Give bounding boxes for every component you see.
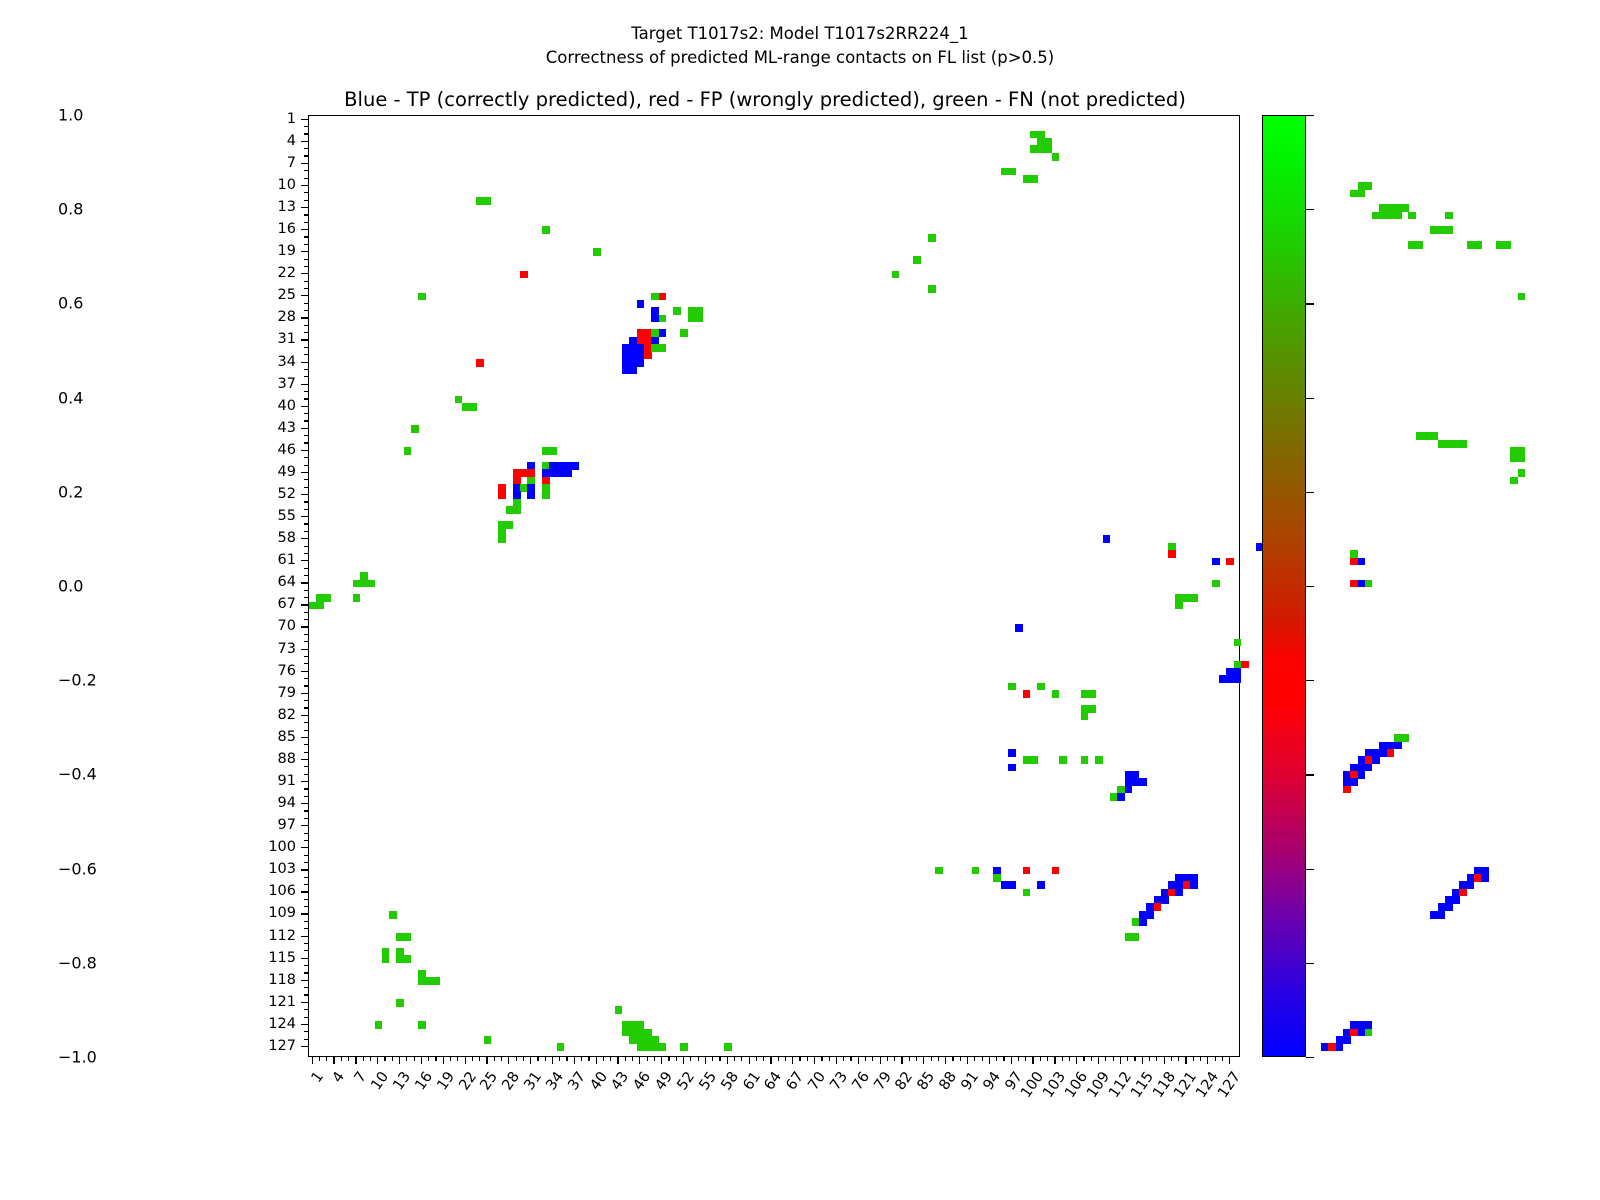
y-tick-label: 34: [246, 354, 296, 370]
x-tick: [450, 1057, 451, 1061]
y-tick: [301, 273, 308, 274]
heatmap-cell: [542, 491, 550, 499]
x-tick: [1040, 1057, 1041, 1061]
y-tick-label: 43: [246, 420, 296, 436]
y-tick-label: 85: [246, 729, 296, 745]
y-tick: [301, 1002, 308, 1003]
y-tick-label: 118: [246, 972, 296, 988]
y-tick: [301, 538, 308, 539]
heatmap-cell: [1059, 756, 1067, 764]
heatmap-cell: [659, 329, 667, 337]
heatmap-cell: [506, 521, 514, 529]
y-tick: [301, 958, 308, 959]
x-tick: [355, 1057, 356, 1064]
x-tick: [312, 1057, 313, 1064]
heatmap-cell: [659, 293, 667, 301]
heatmap-cell: [1474, 241, 1482, 249]
heatmap-cell: [1416, 241, 1424, 249]
colorbar-tick: [1306, 774, 1314, 775]
x-tick: [909, 1057, 910, 1061]
heatmap-cell: [972, 867, 980, 875]
y-tick: [304, 722, 308, 723]
x-tick: [1113, 1057, 1114, 1061]
x-tick: [370, 1057, 371, 1061]
heatmap-cell: [935, 867, 943, 875]
y-tick: [304, 281, 308, 282]
y-tick-label: 115: [246, 950, 296, 966]
y-tick: [304, 391, 308, 392]
y-tick: [304, 663, 308, 664]
y-tick-label: 109: [246, 905, 296, 921]
heatmap-cell: [571, 462, 579, 470]
heatmap-cell: [724, 1043, 732, 1051]
colorbar[interactable]: [1262, 115, 1306, 1057]
y-tick: [304, 178, 308, 179]
heatmap-cell: [404, 933, 412, 941]
y-tick: [304, 126, 308, 127]
y-tick: [304, 619, 308, 620]
heatmap-cell: [659, 344, 667, 352]
y-tick-label: 100: [246, 839, 296, 855]
heatmap-cell: [1438, 911, 1446, 919]
x-tick: [821, 1057, 822, 1061]
x-tick: [1134, 1057, 1135, 1061]
x-tick: [1069, 1057, 1070, 1061]
y-tick-label: 28: [246, 309, 296, 325]
suptitle-line-2: Correctness of predicted ML-range contac…: [0, 46, 1600, 70]
x-tick: [727, 1057, 728, 1064]
y-tick: [301, 362, 308, 363]
heatmap-cell: [913, 256, 921, 264]
heatmap-cell: [520, 271, 528, 279]
heatmap-cell: [1467, 881, 1475, 889]
x-tick: [625, 1057, 626, 1061]
y-tick: [304, 943, 308, 944]
y-tick: [304, 170, 308, 171]
heatmap-cell: [637, 300, 645, 308]
y-tick-label: 31: [246, 331, 296, 347]
heatmap-cell: [1146, 911, 1154, 919]
colorbar-tick: [1306, 303, 1314, 304]
y-tick: [304, 774, 308, 775]
heatmap-cell: [1008, 881, 1016, 889]
colorbar-tick: [1306, 398, 1314, 399]
y-tick: [304, 487, 308, 488]
x-tick: [799, 1057, 800, 1061]
y-tick: [304, 354, 308, 355]
x-tick: [465, 1057, 466, 1064]
x-tick: [566, 1057, 567, 1061]
x-tick: [712, 1057, 713, 1061]
heatmap-cell: [1008, 683, 1016, 691]
y-tick-label: 91: [246, 773, 296, 789]
x-tick: [982, 1057, 983, 1061]
heatmap-cell: [484, 1036, 492, 1044]
heatmap-cell: [324, 594, 332, 602]
y-tick-label: 55: [246, 508, 296, 524]
x-tick: [537, 1057, 538, 1061]
heatmap-cell: [892, 271, 900, 279]
y-tick: [301, 516, 308, 517]
x-tick: [756, 1057, 757, 1061]
heatmap-cell: [1445, 226, 1453, 234]
y-tick: [304, 788, 308, 789]
y-tick: [301, 936, 308, 937]
x-tick: [435, 1057, 436, 1061]
x-tick: [581, 1057, 582, 1061]
heatmap-cell: [1365, 182, 1373, 190]
x-tick: [792, 1057, 793, 1064]
heatmap-cell: [513, 506, 521, 514]
heatmap-cell: [404, 955, 412, 963]
colorbar-tick-label: 0.6: [58, 294, 83, 313]
heatmap-cell: [1103, 535, 1111, 543]
y-tick: [304, 288, 308, 289]
y-tick: [304, 214, 308, 215]
y-tick: [304, 700, 308, 701]
y-tick: [304, 678, 308, 679]
x-tick: [530, 1057, 531, 1064]
y-tick: [304, 420, 308, 421]
x-tick: [1076, 1057, 1077, 1064]
heatmap-cell: [659, 1043, 667, 1051]
heatmap-cell: [1052, 690, 1060, 698]
y-tick: [301, 913, 308, 914]
colorbar-tick: [1306, 963, 1314, 964]
y-tick: [301, 384, 308, 385]
y-tick: [304, 310, 308, 311]
colorbar-tick-label: −0.8: [58, 953, 97, 972]
heatmap-cell: [1190, 594, 1198, 602]
heatmap-cell: [695, 315, 703, 323]
x-tick: [508, 1057, 509, 1064]
y-tick: [304, 994, 308, 995]
x-tick: [807, 1057, 808, 1061]
y-tick-label: 58: [246, 530, 296, 546]
y-tick: [304, 899, 308, 900]
figure-suptitle: Target T1017s2: Model T1017s2RR224_1 Cor…: [0, 22, 1600, 70]
heatmap-cell: [1343, 1036, 1351, 1044]
heatmap-cell: [1358, 771, 1366, 779]
x-tick: [901, 1057, 902, 1064]
heatmap-cell: [498, 535, 506, 543]
y-tick: [304, 192, 308, 193]
y-tick: [304, 634, 308, 635]
y-tick: [304, 810, 308, 811]
y-tick: [301, 450, 308, 451]
heatmap-cell: [404, 447, 412, 455]
y-tick: [304, 862, 308, 863]
x-tick: [377, 1057, 378, 1064]
x-tick: [880, 1057, 881, 1064]
heatmap-cell: [1459, 889, 1467, 897]
heatmap-cell: [1015, 624, 1023, 632]
heatmap-cell: [1154, 903, 1162, 911]
colorbar-tick-label: 0.8: [58, 200, 83, 219]
colorbar-tick: [1306, 209, 1314, 210]
y-tick-label: 46: [246, 442, 296, 458]
heatmap-cell: [1387, 749, 1395, 757]
heatmap-cell: [1241, 661, 1249, 669]
x-tick: [596, 1057, 597, 1064]
heatmap-cell: [1365, 580, 1373, 588]
x-tick: [683, 1057, 684, 1064]
x-tick: [1200, 1057, 1201, 1061]
y-tick: [304, 950, 308, 951]
y-tick: [304, 303, 308, 304]
heatmap-cell: [1023, 690, 1031, 698]
x-tick: [494, 1057, 495, 1061]
x-tick: [996, 1057, 997, 1061]
colorbar-tick: [1306, 1057, 1314, 1058]
heatmap-cell: [411, 425, 419, 433]
heatmap-cell: [1008, 764, 1016, 772]
y-tick: [304, 685, 308, 686]
x-tick: [974, 1057, 975, 1061]
heatmap-cell: [316, 602, 324, 610]
heatmap-cell: [469, 403, 477, 411]
y-tick: [304, 877, 308, 878]
x-tick: [734, 1057, 735, 1061]
heatmap-cell: [557, 1043, 565, 1051]
heatmap-cell: [1139, 918, 1147, 926]
y-tick: [301, 980, 308, 981]
suptitle-line-1: Target T1017s2: Model T1017s2RR224_1: [0, 22, 1600, 46]
heatmap-cell: [1037, 881, 1045, 889]
x-tick: [1018, 1057, 1019, 1061]
x-tick: [989, 1057, 990, 1064]
heatmap-cell: [1365, 1029, 1373, 1037]
x-tick: [894, 1057, 895, 1061]
heatmap-cell: [629, 366, 637, 374]
y-tick: [304, 501, 308, 502]
y-tick-label: 94: [246, 795, 296, 811]
y-tick: [304, 1031, 308, 1032]
x-tick: [705, 1057, 706, 1064]
heatmap-cell: [1175, 602, 1183, 610]
y-tick: [304, 266, 308, 267]
heatmap-cell: [1518, 469, 1526, 477]
x-tick: [1091, 1057, 1092, 1061]
x-tick: [1062, 1057, 1063, 1061]
colorbar-tick: [1306, 115, 1314, 116]
heatmap-cell: [1358, 190, 1366, 198]
heatmap-cell: [1503, 241, 1511, 249]
y-tick: [304, 928, 308, 929]
heatmap-cell: [418, 1021, 426, 1029]
x-tick: [399, 1057, 400, 1064]
y-tick-label: 40: [246, 398, 296, 414]
y-tick: [301, 251, 308, 252]
y-tick: [304, 840, 308, 841]
heatmap-cell: [1212, 580, 1220, 588]
heatmap-cell: [1081, 756, 1089, 764]
y-tick: [301, 604, 308, 605]
y-tick: [301, 891, 308, 892]
x-tick: [406, 1057, 407, 1061]
y-tick: [304, 730, 308, 731]
heatmap-cell: [1139, 778, 1147, 786]
y-tick: [304, 1039, 308, 1040]
x-tick: [785, 1057, 786, 1061]
y-tick: [304, 376, 308, 377]
x-tick: [363, 1057, 364, 1061]
colorbar-tick-label: 0.2: [58, 482, 83, 501]
heatmap-cell: [433, 977, 441, 985]
x-tick: [872, 1057, 873, 1061]
heatmap-cell: [615, 1006, 623, 1014]
heatmap-cell: [1401, 734, 1409, 742]
colorbar-tick-label: 0.0: [58, 577, 83, 596]
heatmap-cell: [1394, 212, 1402, 220]
heatmap-cell: [928, 285, 936, 293]
heatmap-cell: [637, 359, 645, 367]
colorbar-tick: [1306, 586, 1314, 587]
x-tick: [676, 1057, 677, 1061]
y-tick: [301, 649, 308, 650]
heatmap-cell: [484, 197, 492, 205]
x-tick: [457, 1057, 458, 1061]
y-tick: [304, 597, 308, 598]
heatmap-cell: [1226, 558, 1234, 566]
y-tick: [304, 347, 308, 348]
heatmap-cell: [1037, 683, 1045, 691]
x-tick: [960, 1057, 961, 1061]
y-tick: [304, 479, 308, 480]
contact-map-heatmap[interactable]: [308, 115, 1240, 1057]
y-tick-label: 61: [246, 552, 296, 568]
colorbar-tick-label: −0.6: [58, 859, 97, 878]
heatmap-cell: [1452, 896, 1460, 904]
x-tick: [814, 1057, 815, 1064]
heatmap-cell: [375, 1021, 383, 1029]
y-tick: [301, 163, 308, 164]
colorbar-tick-label: 0.4: [58, 388, 83, 407]
y-tick: [304, 575, 308, 576]
y-tick-label: 127: [246, 1038, 296, 1054]
y-tick: [301, 141, 308, 142]
heatmap-cell: [1030, 756, 1038, 764]
x-tick: [850, 1057, 851, 1061]
x-tick: [952, 1057, 953, 1061]
y-tick-label: 124: [246, 1016, 296, 1032]
heatmap-cell: [1095, 756, 1103, 764]
y-tick: [304, 818, 308, 819]
heatmap-cell: [1117, 793, 1125, 801]
heatmap-cell: [1190, 881, 1198, 889]
y-tick-label: 4: [246, 133, 296, 149]
y-tick: [304, 766, 308, 767]
heatmap-cell: [680, 329, 688, 337]
x-tick: [858, 1057, 859, 1064]
y-tick: [304, 398, 308, 399]
y-tick: [301, 715, 308, 716]
heatmap-cell: [1125, 786, 1133, 794]
x-tick: [1178, 1057, 1179, 1061]
x-tick: [428, 1057, 429, 1061]
y-tick: [301, 582, 308, 583]
x-tick: [719, 1057, 720, 1061]
x-tick: [690, 1057, 691, 1061]
heatmap-cell: [1518, 455, 1526, 463]
axes-title: Blue - TP (correctly predicted), red - F…: [0, 88, 1530, 111]
x-tick: [887, 1057, 888, 1061]
y-tick: [301, 869, 308, 870]
heatmap-cell: [1008, 168, 1016, 176]
heatmap-cell: [1408, 212, 1416, 220]
heatmap-cell: [542, 226, 550, 234]
x-tick: [931, 1057, 932, 1061]
y-tick: [304, 413, 308, 414]
y-tick: [304, 590, 308, 591]
y-tick-label: 1: [246, 111, 296, 127]
heatmap-cell: [680, 1043, 688, 1051]
heatmap-cell: [396, 999, 404, 1007]
heatmap-cell: [1358, 558, 1366, 566]
y-tick: [301, 1046, 308, 1047]
y-tick-label: 16: [246, 221, 296, 237]
y-tick: [304, 148, 308, 149]
x-tick: [1047, 1057, 1048, 1061]
x-tick: [1193, 1057, 1194, 1061]
heatmap-cell: [1445, 212, 1453, 220]
y-tick: [304, 332, 308, 333]
y-tick: [304, 906, 308, 907]
y-tick: [301, 339, 308, 340]
heatmap-cell: [1510, 477, 1518, 485]
y-tick-label: 112: [246, 928, 296, 944]
heatmap-cell: [498, 491, 506, 499]
y-tick: [304, 752, 308, 753]
x-tick: [647, 1057, 648, 1061]
y-tick: [304, 523, 308, 524]
x-tick: [486, 1057, 487, 1064]
y-tick: [304, 884, 308, 885]
y-tick-label: 19: [246, 243, 296, 259]
x-tick: [1083, 1057, 1084, 1061]
x-tick: [501, 1057, 502, 1061]
y-tick-label: 13: [246, 199, 296, 215]
heatmap-cell: [1023, 867, 1031, 875]
heatmap-cell: [1234, 675, 1242, 683]
heatmap-cell: [1394, 742, 1402, 750]
y-tick-label: 67: [246, 596, 296, 612]
colorbar-tick-label: 1.0: [58, 106, 83, 125]
y-tick: [304, 435, 308, 436]
y-tick: [304, 744, 308, 745]
y-tick: [301, 825, 308, 826]
heatmap-cell: [1459, 440, 1467, 448]
y-tick: [304, 921, 308, 922]
heatmap-cell: [1336, 1043, 1344, 1051]
x-tick: [639, 1057, 640, 1064]
y-tick: [301, 185, 308, 186]
x-tick: [923, 1057, 924, 1064]
y-tick-label: 37: [246, 376, 296, 392]
x-tick: [1229, 1057, 1230, 1064]
x-tick: [603, 1057, 604, 1061]
y-tick: [301, 317, 308, 318]
x-tick: [559, 1057, 560, 1061]
y-tick-label: 70: [246, 618, 296, 634]
heatmap-cell: [1008, 749, 1016, 757]
heatmap-cell: [1518, 293, 1526, 301]
heatmap-cell: [353, 594, 361, 602]
y-tick-label: 76: [246, 663, 296, 679]
y-tick: [301, 560, 308, 561]
y-tick-label: 25: [246, 287, 296, 303]
heatmap-cell: [1161, 896, 1169, 904]
